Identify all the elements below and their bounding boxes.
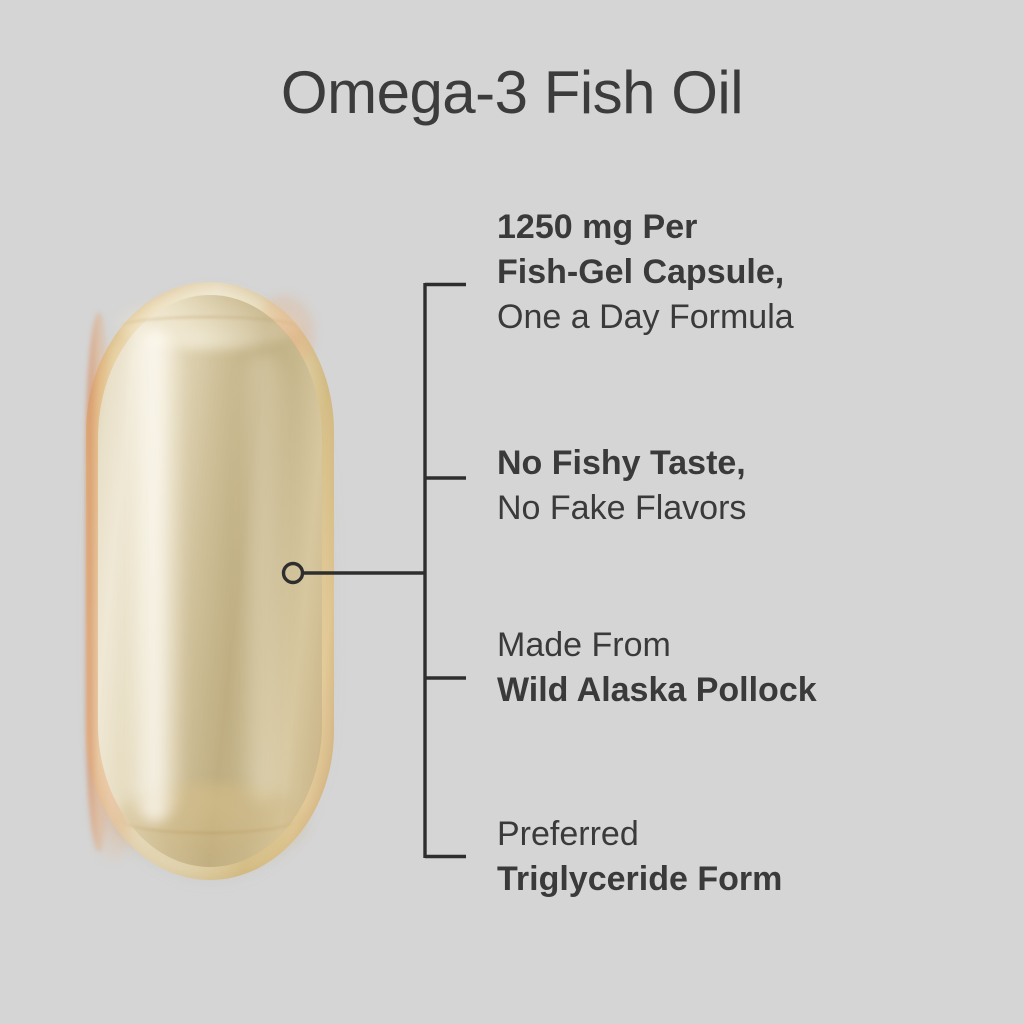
capsule-seam-bottom (122, 806, 294, 834)
callout-line: No Fishy Taste, (497, 441, 746, 486)
callout-form: Preferred Triglyceride Form (497, 812, 782, 902)
callout-taste: No Fishy Taste, No Fake Flavors (497, 441, 746, 531)
callout-line: Preferred (497, 812, 782, 857)
callout-line: No Fake Flavors (497, 486, 746, 531)
infographic-canvas: Omega-3 Fish Oil 1250 mg P (0, 0, 1024, 1024)
capsule-seam-top (120, 316, 296, 338)
callout-dose: 1250 mg Per Fish-Gel Capsule, One a Day … (497, 205, 794, 340)
callout-line: Triglyceride Form (497, 857, 782, 902)
callout-line: Made From (497, 623, 817, 668)
callout-line: 1250 mg Per (497, 205, 794, 250)
capsule-right-sheen (236, 352, 290, 802)
callout-source: Made From Wild Alaska Pollock (497, 623, 817, 713)
callout-line: One a Day Formula (497, 295, 794, 340)
callout-line: Fish-Gel Capsule, (497, 250, 794, 295)
page-title: Omega-3 Fish Oil (0, 58, 1024, 128)
callout-line: Wild Alaska Pollock (497, 668, 817, 713)
capsule-specular-highlight (124, 330, 186, 822)
product-capsule-image (86, 282, 334, 882)
